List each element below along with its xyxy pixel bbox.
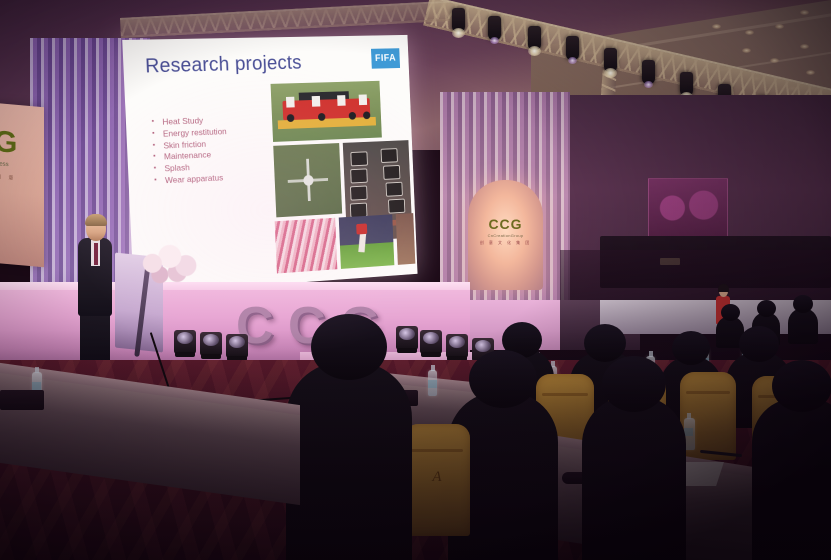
- downlight-icon: [806, 70, 815, 75]
- downlight-icon: [742, 48, 751, 53]
- list-item: Wear apparatus: [154, 172, 229, 187]
- flower-arrangement: [140, 238, 202, 284]
- stage-spotlight-icon: [642, 60, 655, 84]
- moving-head-light-icon: [446, 334, 468, 358]
- speaker-legs: [80, 312, 110, 366]
- moving-head-light-icon: [396, 326, 418, 350]
- conference-hall-photo: CCG CnCreationGroup 创 意 文 化 集 团 G ness 创…: [0, 0, 831, 560]
- audience-member-foreground: [752, 398, 831, 560]
- stage-spotlight-icon: [488, 16, 501, 40]
- downlight-icon: [770, 58, 779, 63]
- moving-head-light-icon: [174, 330, 196, 354]
- backlit-logo-subtitle: CnCreationGroup: [468, 233, 543, 238]
- backlit-logo-brand: CCG: [468, 216, 543, 232]
- decorative-wall-grille: [648, 178, 728, 238]
- slide-title: Research projects: [145, 52, 302, 78]
- downlight-icon: [775, 24, 784, 29]
- banner-subtitle: ness: [0, 161, 9, 168]
- moving-head-light-icon: [200, 332, 222, 356]
- downlight-icon: [745, 30, 754, 35]
- audience-chair-marked-a: A: [404, 424, 470, 536]
- player-on-pitch-photo: [339, 214, 395, 269]
- left-sponsor-banner: G ness 创 意: [0, 103, 44, 268]
- turf-edge-photo: [396, 213, 416, 265]
- audience-member-foreground: [286, 362, 412, 560]
- stage-spotlight-icon: [604, 48, 617, 72]
- moving-head-light-icon: [420, 330, 442, 354]
- slide-bullet-list: Heat Study Energy restitution Skin frict…: [151, 115, 229, 188]
- stage-spotlight-icon: [680, 72, 693, 96]
- rear-attendee: [788, 308, 818, 344]
- downlight-icon: [800, 10, 809, 15]
- hostess-hair: [718, 284, 729, 292]
- turf-test-rig-photo: [271, 81, 382, 142]
- speaker-tie: [94, 243, 98, 265]
- banner-chinese: 创 意: [0, 173, 16, 182]
- striped-stadium-surface-photo: [275, 218, 338, 274]
- backlit-logo-chinese: 创 意 文 化 集 团: [468, 240, 543, 246]
- stage-spotlight-icon: [528, 26, 541, 50]
- water-bottle: [428, 370, 437, 396]
- fifa-logo: FIFA: [371, 48, 400, 68]
- downlight-icon: [800, 44, 809, 49]
- rotational-traction-device-photo: [273, 143, 342, 217]
- moving-head-light-icon: [226, 334, 248, 358]
- chair-marker-label: A: [404, 469, 470, 486]
- downlight-icon: [712, 24, 721, 29]
- stage-spotlight-icon: [452, 8, 465, 32]
- speaker-hair: [85, 214, 107, 226]
- laptop: [0, 390, 44, 410]
- banner-glyph: G: [0, 125, 15, 161]
- stage-spotlight-icon: [566, 36, 579, 60]
- backlit-ccg-logo-panel: CCG CnCreationGroup 创 意 文 化 集 团: [468, 180, 543, 290]
- audience-member-foreground: [582, 396, 686, 560]
